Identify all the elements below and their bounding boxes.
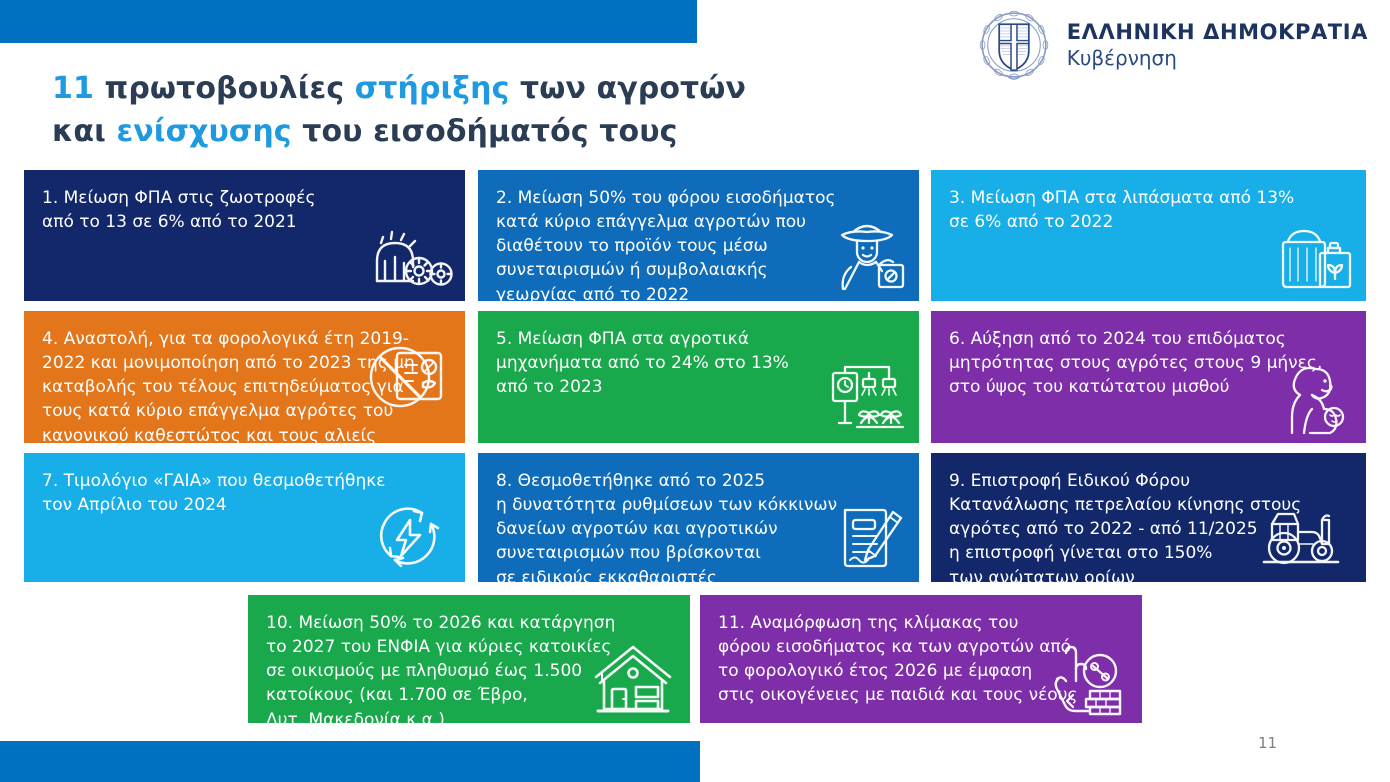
brand-line-1: ΕΛΛΗΝΙΚΗ ΔΗΜΟΚΡΑΤΙΑ	[1067, 21, 1368, 44]
initiative-card-6-text: 6. Αύξηση από το 2024 του επιδόματος μητ…	[949, 327, 1348, 399]
title-highlight-2: ενίσχυσης	[116, 114, 291, 149]
initiative-card-6[interactable]: 6. Αύξηση από το 2024 του επιδόματος μητ…	[931, 311, 1366, 443]
initiative-card-9[interactable]: 9. Επιστροφή Ειδικού Φόρου Κατανάλωσης π…	[931, 453, 1366, 582]
initiative-card-4[interactable]: 4. Αναστολή, για τα φορολογικά έτη 2019-…	[24, 311, 465, 443]
initiative-card-5-text: 5. Μείωση ΦΠΑ στα αγροτικά μηχανήματα απ…	[496, 327, 901, 399]
initiative-card-9-text: 9. Επιστροφή Ειδικού Φόρου Κατανάλωσης π…	[949, 469, 1348, 582]
title-number: 11	[52, 71, 94, 106]
initiative-card-10-text: 10. Μείωση 50% το 2026 και κατάργηση το …	[266, 611, 672, 723]
page-number: 11	[1258, 734, 1277, 752]
title-highlight-1: στήριξης	[355, 71, 510, 106]
brand-line-2: Κυβέρνηση	[1067, 47, 1368, 69]
bottom-accent-bar	[0, 741, 700, 782]
brand-text-block: ΕΛΛΗΝΙΚΗ ΔΗΜΟΚΡΑΤΙΑ Κυβέρνηση	[1067, 21, 1368, 69]
initiative-card-11[interactable]: 11. Αναμόρφωση της κλίμακας του φόρου ει…	[700, 595, 1142, 723]
initiative-card-8-text: 8. Θεσμοθετήθηκε από το 2025 η δυνατότητ…	[496, 469, 901, 582]
initiative-card-10[interactable]: 10. Μείωση 50% το 2026 και κατάργηση το …	[248, 595, 690, 723]
greek-coat-of-arms-icon	[977, 8, 1051, 82]
initiative-card-1-text: 1. Μείωση ΦΠΑ στις ζωοτροφές από το 13 σ…	[42, 186, 447, 234]
header-brand: ΕΛΛΗΝΙΚΗ ΔΗΜΟΚΡΑΤΙΑ Κυβέρνηση	[977, 8, 1368, 82]
initiative-card-8[interactable]: 8. Θεσμοθετήθηκε από το 2025 η δυνατότητ…	[478, 453, 919, 582]
top-accent-bar	[0, 0, 697, 43]
title-part-2: των αγροτών	[509, 71, 746, 106]
initiative-card-2-text: 2. Μείωση 50% του φόρου εισοδήματος κατά…	[496, 186, 901, 301]
initiative-card-7-text: 7. Τιμολόγιο «ΓΑΙΑ» που θεσμοθετήθηκε το…	[42, 469, 447, 517]
initiative-card-11-text: 11. Αναμόρφωση της κλίμακας του φόρου ει…	[718, 611, 1124, 708]
initiative-card-4-text: 4. Αναστολή, για τα φορολογικά έτη 2019-…	[42, 327, 447, 443]
title-part-4: του εισοδήματός τους	[292, 114, 678, 149]
initiative-card-3[interactable]: 3. Μείωση ΦΠΑ στα λιπάσματα από 13% σε 6…	[931, 170, 1366, 301]
page-title: 11 πρωτοβουλίες στήριξης των αγροτών και…	[52, 68, 952, 153]
title-part-1: πρωτοβουλίες	[94, 71, 355, 106]
initiative-card-2[interactable]: 2. Μείωση 50% του φόρου εισοδήματος κατά…	[478, 170, 919, 301]
title-part-3: και	[52, 114, 116, 149]
initiative-card-5[interactable]: 5. Μείωση ΦΠΑ στα αγροτικά μηχανήματα απ…	[478, 311, 919, 443]
initiative-card-1[interactable]: 1. Μείωση ΦΠΑ στις ζωοτροφές από το 13 σ…	[24, 170, 465, 301]
initiative-card-3-text: 3. Μείωση ΦΠΑ στα λιπάσματα από 13% σε 6…	[949, 186, 1348, 234]
initiative-card-7[interactable]: 7. Τιμολόγιο «ΓΑΙΑ» που θεσμοθετήθηκε το…	[24, 453, 465, 582]
hay-bales-icon	[367, 227, 453, 293]
